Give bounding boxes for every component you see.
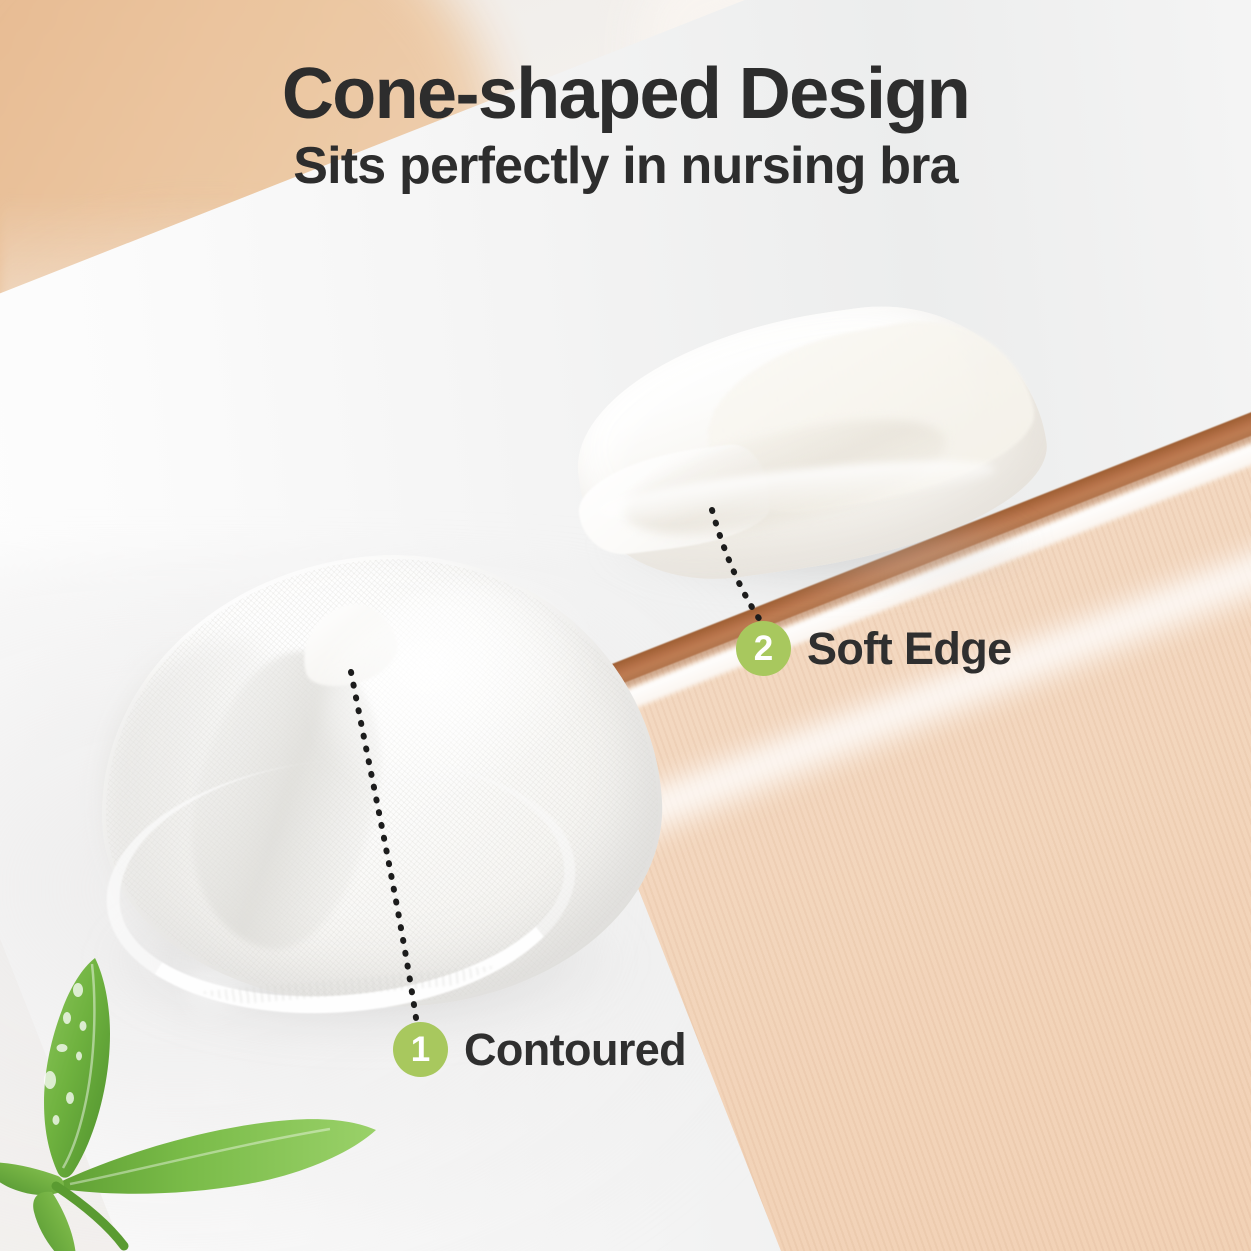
callout-label-soft-edge: Soft Edge bbox=[807, 623, 1012, 675]
callout-contoured: 1 Contoured bbox=[393, 1022, 686, 1077]
callout-badge-1-number: 1 bbox=[411, 1032, 430, 1067]
callout-label-contoured: Contoured bbox=[464, 1024, 686, 1076]
page-subtitle: Sits perfectly in nursing bra bbox=[0, 139, 1251, 194]
callout-badge-1: 1 bbox=[393, 1022, 448, 1077]
product-infographic: Cone-shaped Design Sits perfectly in nur… bbox=[0, 0, 1251, 1251]
heading-block: Cone-shaped Design Sits perfectly in nur… bbox=[0, 58, 1251, 194]
callout-badge-2: 2 bbox=[736, 621, 791, 676]
callout-soft-edge: 2 Soft Edge bbox=[736, 621, 1012, 676]
page-title: Cone-shaped Design bbox=[0, 58, 1251, 131]
callout-badge-2-number: 2 bbox=[754, 631, 773, 666]
